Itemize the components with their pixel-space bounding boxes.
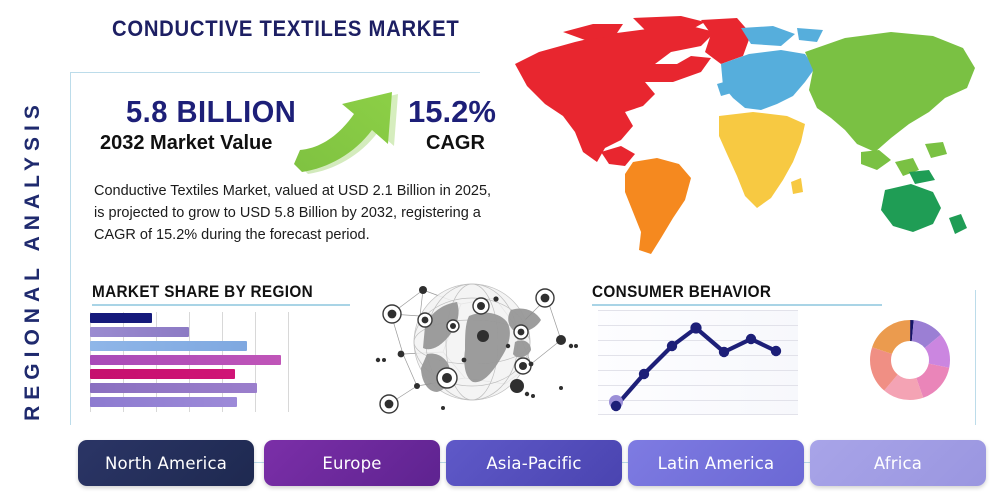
region-tab-africa[interactable]: Africa bbox=[810, 440, 986, 486]
page-title: CONDUCTIVE TEXTILES MARKET bbox=[112, 16, 459, 42]
region-tab-label: Asia-Pacific bbox=[486, 454, 581, 473]
region-tab-north-america[interactable]: North America bbox=[78, 440, 254, 486]
cagr-figure: 15.2% bbox=[408, 94, 496, 130]
section-rule-market-share bbox=[92, 304, 350, 306]
consumer-behavior-line-chart bbox=[598, 310, 798, 415]
world-map-icon bbox=[505, 12, 985, 262]
section-header-market-share: MARKET SHARE BY REGION bbox=[92, 282, 313, 302]
line-chart-series bbox=[598, 310, 798, 415]
bar-6 bbox=[90, 383, 257, 393]
bar-5 bbox=[90, 369, 235, 379]
region-tab-label: Europe bbox=[322, 454, 381, 473]
global-network-globe-icon bbox=[365, 268, 580, 420]
bar-7 bbox=[90, 397, 237, 407]
infographic-root: REGIONAL ANALYSIS CONDUCTIVE TEXTILES MA… bbox=[0, 0, 1000, 500]
section-header-consumer-behavior: CONSUMER BEHAVIOR bbox=[592, 282, 771, 302]
vertical-section-label-text: REGIONAL ANALYSIS bbox=[21, 99, 45, 421]
region-tab-label: North America bbox=[105, 454, 227, 473]
vertical-section-label: REGIONAL ANALYSIS bbox=[10, 60, 56, 460]
region-tab-label: Africa bbox=[874, 454, 922, 473]
cagr-caption: CAGR bbox=[426, 132, 485, 155]
region-tab-latin-america[interactable]: Latin America bbox=[628, 440, 804, 486]
market-value-figure: 5.8 BILLION bbox=[126, 94, 296, 130]
bar-2 bbox=[90, 327, 189, 337]
region-tab-asia-pacific[interactable]: Asia-Pacific bbox=[446, 440, 622, 486]
bar-3 bbox=[90, 341, 247, 351]
bar-4 bbox=[90, 355, 281, 365]
region-tab-europe[interactable]: Europe bbox=[264, 440, 440, 486]
consumer-behavior-donut-chart bbox=[858, 308, 962, 412]
market-share-bar-chart bbox=[90, 312, 335, 412]
market-description: Conductive Textiles Market, valued at US… bbox=[94, 180, 494, 246]
hero-stats: 5.8 BILLION 2032 Market Value 15.2% CAGR bbox=[92, 92, 512, 172]
growth-arrow-icon bbox=[292, 86, 412, 176]
region-tab-label: Latin America bbox=[658, 454, 775, 473]
bar-1 bbox=[90, 313, 152, 323]
region-tabs: North America Europe Asia-Pacific Latin … bbox=[78, 440, 990, 492]
market-value-caption: 2032 Market Value bbox=[100, 132, 272, 155]
section-rule-consumer-behavior bbox=[592, 304, 882, 306]
